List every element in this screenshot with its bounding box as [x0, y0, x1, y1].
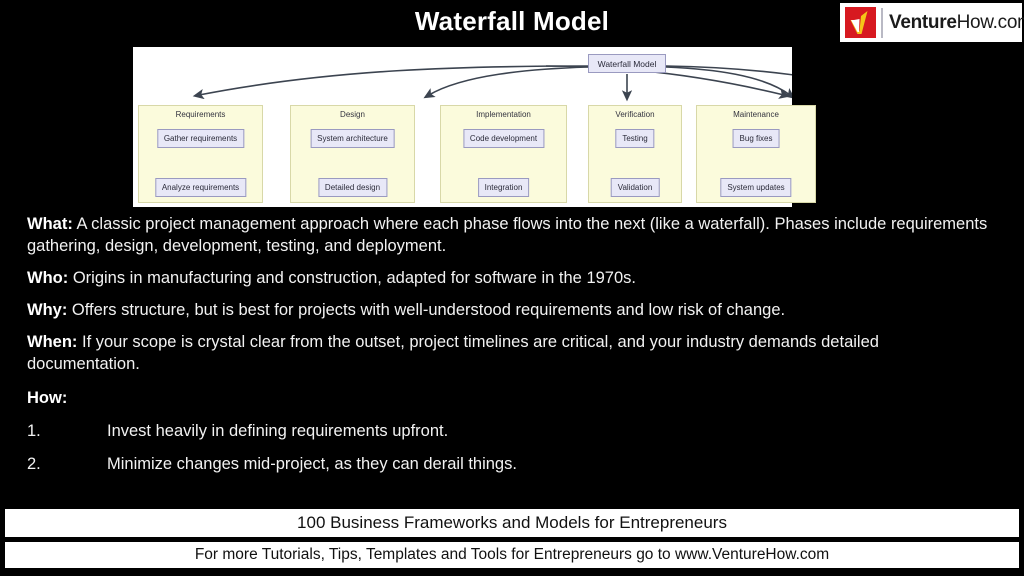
- when-label: When:: [27, 333, 77, 351]
- why-paragraph: Why: Offers structure, but is best for p…: [27, 299, 995, 321]
- phase-task[interactable]: Gather requirements: [157, 129, 244, 148]
- why-text: Offers structure, but is best for projec…: [67, 301, 785, 319]
- when-text: If your scope is crystal clear from the …: [27, 333, 879, 373]
- phase-task[interactable]: System architecture: [310, 129, 395, 148]
- who-label: Who:: [27, 269, 68, 287]
- phase-task[interactable]: Bug fixes: [733, 129, 780, 148]
- footer-title-bar: 100 Business Frameworks and Models for E…: [4, 508, 1020, 538]
- what-paragraph: What: A classic project management appro…: [27, 213, 995, 257]
- phase-task[interactable]: Validation: [611, 178, 660, 197]
- what-label: What:: [27, 215, 73, 233]
- phase-requirements[interactable]: Requirements Gather requirements Analyze…: [138, 105, 263, 203]
- phase-verification[interactable]: Verification Testing Validation: [588, 105, 682, 203]
- phase-title: Verification: [589, 110, 681, 119]
- how-step-text: Minimize changes mid-project, as they ca…: [107, 453, 517, 475]
- what-text: A classic project management approach wh…: [27, 215, 987, 255]
- phase-task[interactable]: System updates: [720, 178, 791, 197]
- why-label: Why:: [27, 301, 67, 319]
- body-copy: What: A classic project management appro…: [27, 213, 995, 486]
- phase-design[interactable]: Design System architecture Detailed desi…: [290, 105, 415, 203]
- brand-name: VentureHow.com: [889, 12, 1024, 34]
- phase-task[interactable]: Code development: [463, 129, 544, 148]
- who-paragraph: Who: Origins in manufacturing and constr…: [27, 267, 995, 289]
- logo-divider: [881, 8, 883, 38]
- phase-task[interactable]: Integration: [478, 178, 530, 197]
- when-paragraph: When: If your scope is crystal clear fro…: [27, 331, 995, 375]
- phase-task[interactable]: Analyze requirements: [155, 178, 246, 197]
- brand-name-light: How.com: [957, 12, 1024, 33]
- phase-title: Design: [291, 110, 414, 119]
- how-step-text: Invest heavily in defining requirements …: [107, 420, 448, 442]
- phase-title: Implementation: [441, 110, 566, 119]
- who-text: Origins in manufacturing and constructio…: [68, 269, 636, 287]
- phase-title: Requirements: [139, 110, 262, 119]
- phase-task[interactable]: Testing: [615, 129, 654, 148]
- how-step-number: 1.: [27, 420, 107, 442]
- phase-title: Maintenance: [697, 110, 815, 119]
- how-step: 2. Minimize changes mid-project, as they…: [27, 453, 995, 475]
- brand-logo[interactable]: VentureHow.com: [840, 3, 1022, 42]
- check-mark-icon: [845, 7, 876, 38]
- footer-url-bar[interactable]: For more Tutorials, Tips, Templates and …: [4, 541, 1020, 569]
- phase-implementation[interactable]: Implementation Code development Integrat…: [440, 105, 567, 203]
- phase-task[interactable]: Detailed design: [318, 178, 387, 197]
- how-step: 1. Invest heavily in defining requiremen…: [27, 420, 995, 442]
- how-label: How:: [27, 389, 995, 408]
- waterfall-diagram: Waterfall Model Requirements Gather requ…: [133, 47, 792, 207]
- brand-name-bold: Venture: [889, 12, 957, 33]
- slide-root: Waterfall Model VentureHow.com: [0, 0, 1024, 576]
- phase-maintenance[interactable]: Maintenance Bug fixes System updates: [696, 105, 816, 203]
- diagram-root-node[interactable]: Waterfall Model: [588, 54, 666, 73]
- how-step-number: 2.: [27, 453, 107, 475]
